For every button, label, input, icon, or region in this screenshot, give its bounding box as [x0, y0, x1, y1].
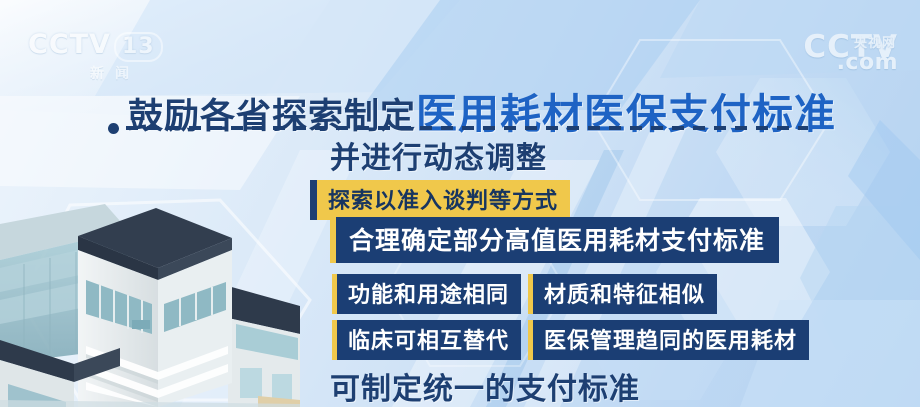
news-graphic-canvas: CCTV13 新闻 CCTV .com 央视网 鼓励各省探索制定医用耗材医保支付… — [0, 0, 920, 407]
criteria-item: 材质和特征相似 — [528, 274, 717, 314]
criteria-label: 临床可相互替代 — [337, 320, 521, 360]
criteria-item: 临床可相互替代 — [332, 320, 521, 360]
channel-number: 13 — [114, 32, 163, 62]
navy-highlight-box: 合理确定部分高值医用耗材支付标准 — [330, 217, 779, 263]
cctv13-channel-logo: CCTV13 新闻 — [28, 30, 188, 82]
building-svg — [0, 168, 300, 407]
navy-box-label: 合理确定部分高值医用耗材支付标准 — [336, 217, 779, 263]
channel-logo-cctv: CCTV — [28, 29, 111, 60]
gold-box-accent-bar — [310, 180, 317, 220]
underline-dot-marker — [108, 123, 119, 134]
criteria-label: 材质和特征相似 — [533, 274, 717, 314]
channel-logo-text: CCTV13 — [28, 30, 188, 62]
watermark-chinese-text: 央视网 — [854, 32, 896, 51]
conclusion-text: 可制定统一的支付标准 — [330, 364, 640, 407]
headline-second-line: 并进行动态调整 — [330, 133, 547, 177]
underline-dashes — [126, 126, 808, 130]
cctv-com-watermark: CCTV .com 央视网 — [803, 32, 898, 78]
criteria-item: 医保管理趋同的医用耗材 — [528, 320, 809, 360]
criteria-item: 功能和用途相同 — [332, 274, 521, 314]
watermark-com-text: .com — [837, 50, 898, 75]
criteria-label: 功能和用途相同 — [337, 274, 521, 314]
criteria-label: 医保管理趋同的医用耗材 — [533, 320, 809, 360]
hospital-building-illustration — [0, 168, 300, 407]
gold-highlight-box: 探索以准入谈判等方式 — [310, 180, 570, 220]
gold-box-label: 探索以准入谈判等方式 — [317, 180, 570, 220]
headline-underline — [108, 124, 808, 132]
